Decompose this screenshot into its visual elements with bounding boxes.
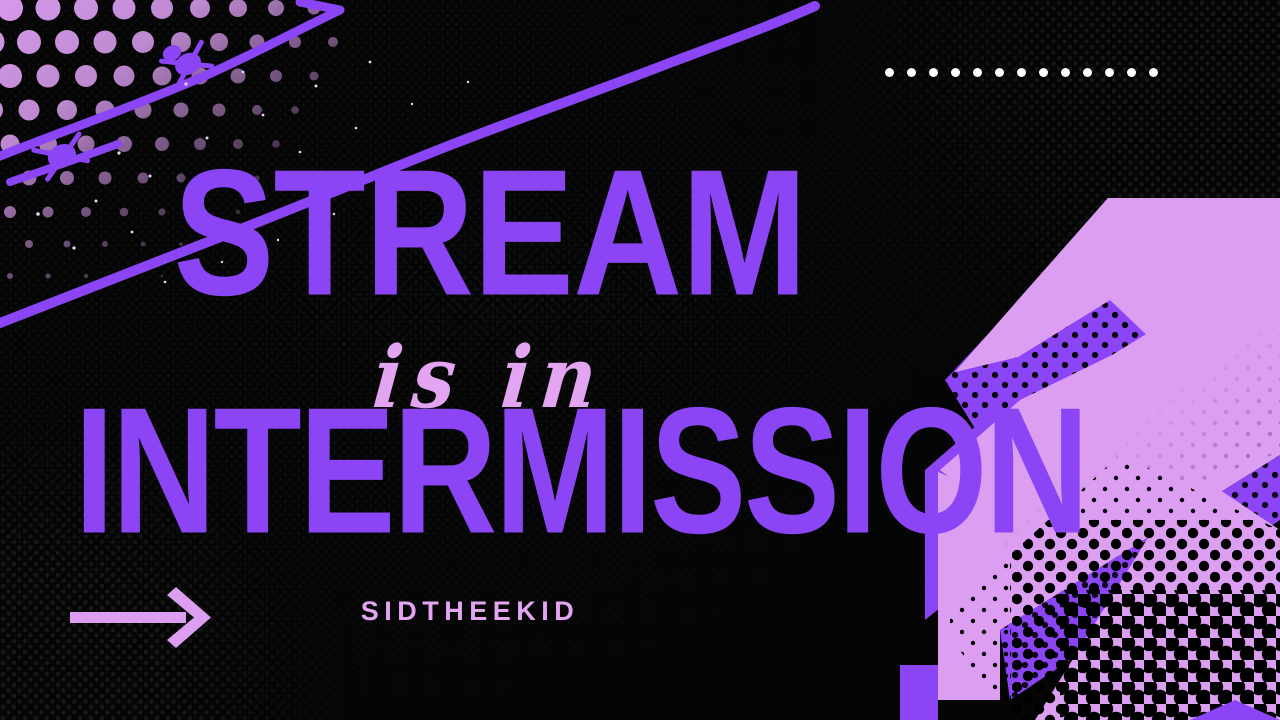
arrow-right-icon — [70, 585, 218, 651]
dot — [951, 68, 960, 77]
dot — [973, 68, 982, 77]
top-dot-row — [885, 68, 1158, 77]
dot — [1127, 68, 1136, 77]
dot — [929, 68, 938, 77]
dot — [995, 68, 1004, 77]
barbed-wire-icon — [0, 2, 815, 330]
dot — [907, 68, 916, 77]
dot — [1149, 68, 1158, 77]
wire-specks — [36, 61, 469, 284]
dot — [1105, 68, 1114, 77]
dot — [1083, 68, 1092, 77]
dot — [1017, 68, 1026, 77]
dot — [885, 68, 894, 77]
dot — [1061, 68, 1070, 77]
intermission-slide: STREAM is in INTERMISSION SIDTHEEKID — [0, 0, 1280, 720]
dot — [1039, 68, 1048, 77]
